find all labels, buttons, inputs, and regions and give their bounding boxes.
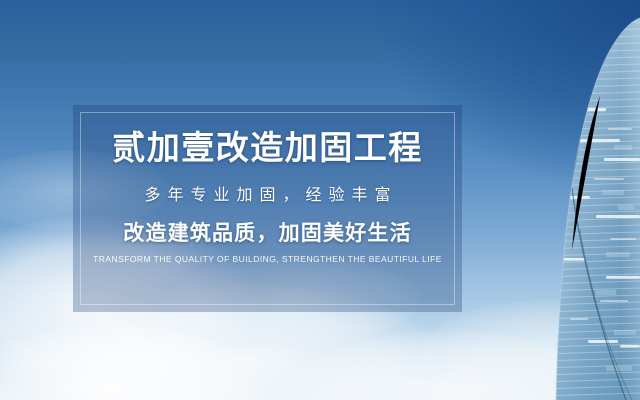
banner-tagline: 改造建筑品质，加固美好生活	[123, 223, 412, 244]
banner-headline: 贰加壹改造加固工程	[112, 131, 423, 164]
hero-text-panel: 贰加壹改造加固工程 多年专业加固，经验丰富 改造建筑品质，加固美好生活 TRAN…	[73, 105, 462, 312]
banner-subheadline: 多年专业加固，经验丰富	[137, 188, 397, 204]
skyscraper-image	[510, 0, 640, 400]
hero-banner: 贰加壹改造加固工程 多年专业加固，经验丰富 改造建筑品质，加固美好生活 TRAN…	[0, 0, 640, 400]
banner-english-tagline: TRANSFORM THE QUALITY OF BUILDING, STREN…	[93, 255, 442, 264]
panel-content: 贰加壹改造加固工程 多年专业加固，经验丰富 改造建筑品质，加固美好生活 TRAN…	[73, 105, 462, 312]
